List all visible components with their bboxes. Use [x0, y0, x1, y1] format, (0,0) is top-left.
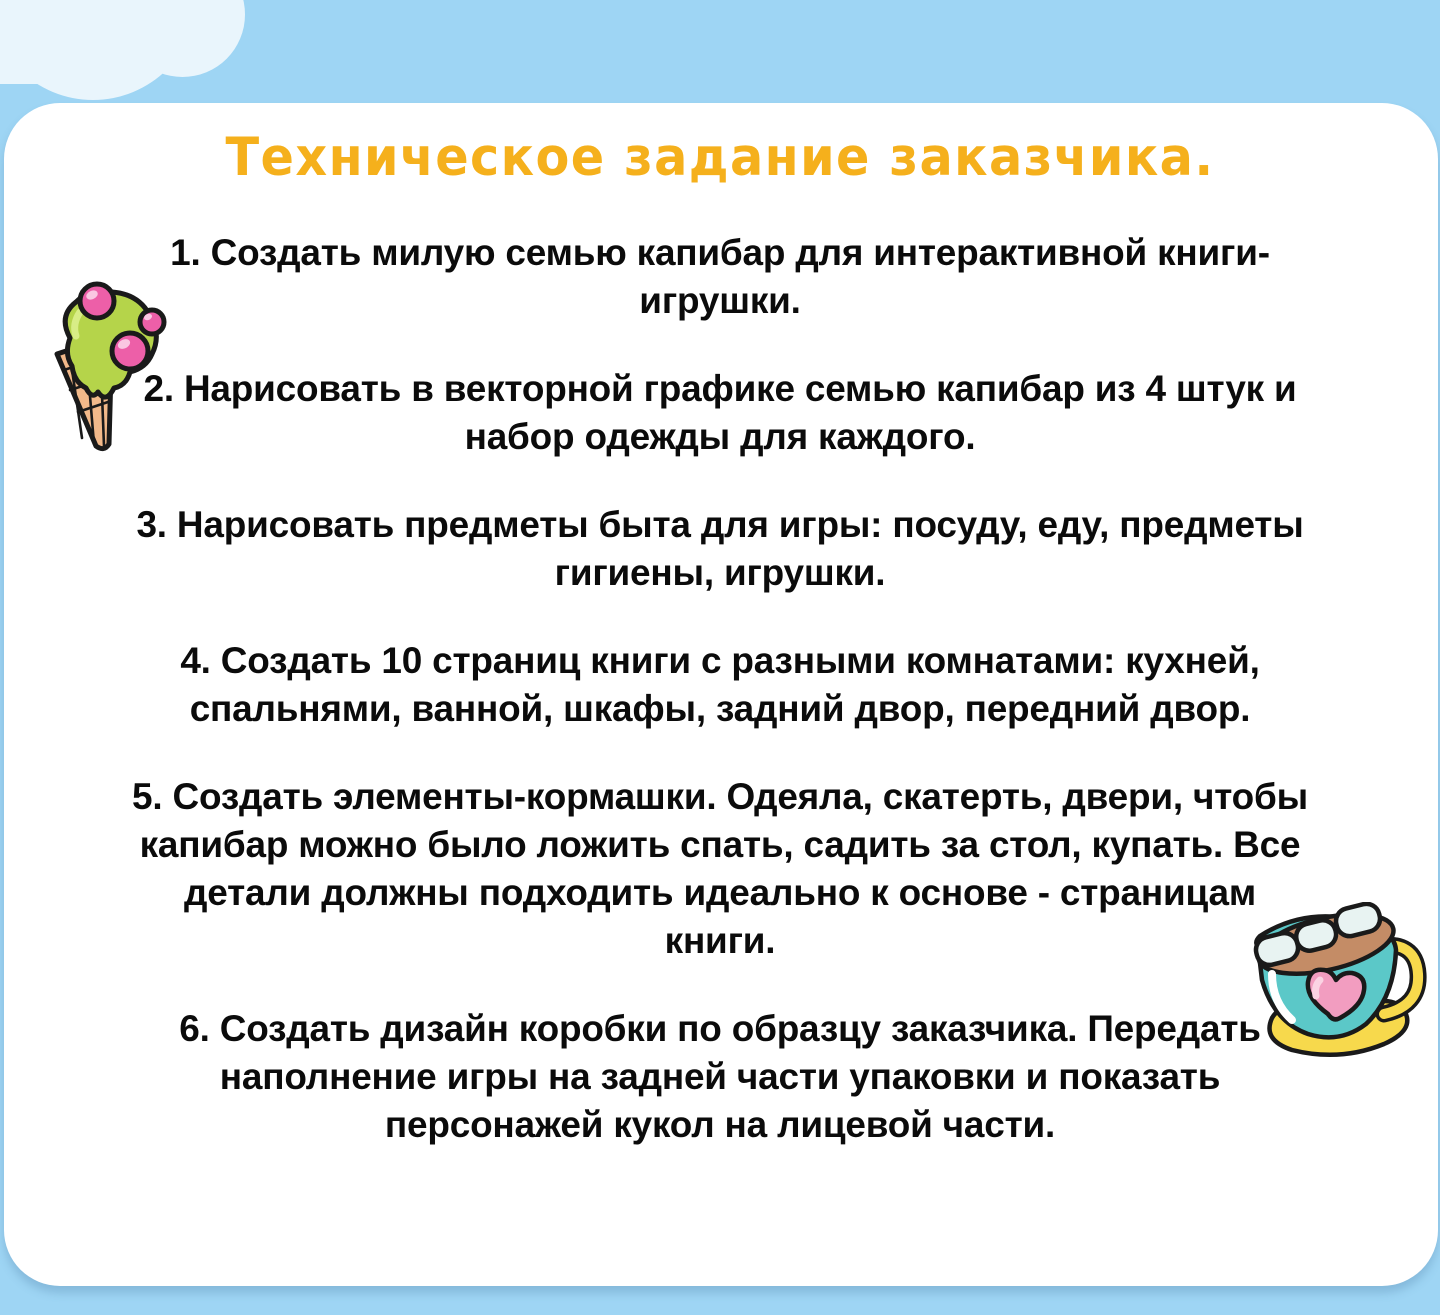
page-title: Техническое задание заказчика.: [50, 131, 1389, 184]
tea-cup-icon: [1244, 902, 1432, 1062]
requirements-list: 1. Создать милую семью капибар для интер…: [120, 228, 1320, 1148]
requirement-item-1: 1. Создать милую семью капибар для интер…: [129, 228, 1311, 324]
requirement-item-4: 4. Создать 10 страниц книги с разными ко…: [129, 636, 1311, 732]
slide-canvas: Техническое задание заказчика. 1. Создат…: [0, 0, 1440, 1315]
cloud-puff: [0, 0, 108, 84]
requirement-item-6: 6. Создать дизайн коробки по образцу зак…: [129, 1004, 1311, 1148]
requirement-item-2: 2. Нарисовать в векторной графике семью …: [129, 364, 1311, 460]
cloud-puff: [0, 0, 80, 82]
cloud-puff: [120, 0, 245, 77]
ice-cream-cone-icon: [34, 278, 174, 453]
cloud-puff: [0, 0, 198, 100]
requirement-item-5: 5. Создать элементы-кормашки. Одеяла, ск…: [129, 772, 1311, 964]
cloud-icon: [0, 0, 260, 112]
requirement-item-3: 3. Нарисовать предметы быта для игры: по…: [129, 500, 1311, 596]
